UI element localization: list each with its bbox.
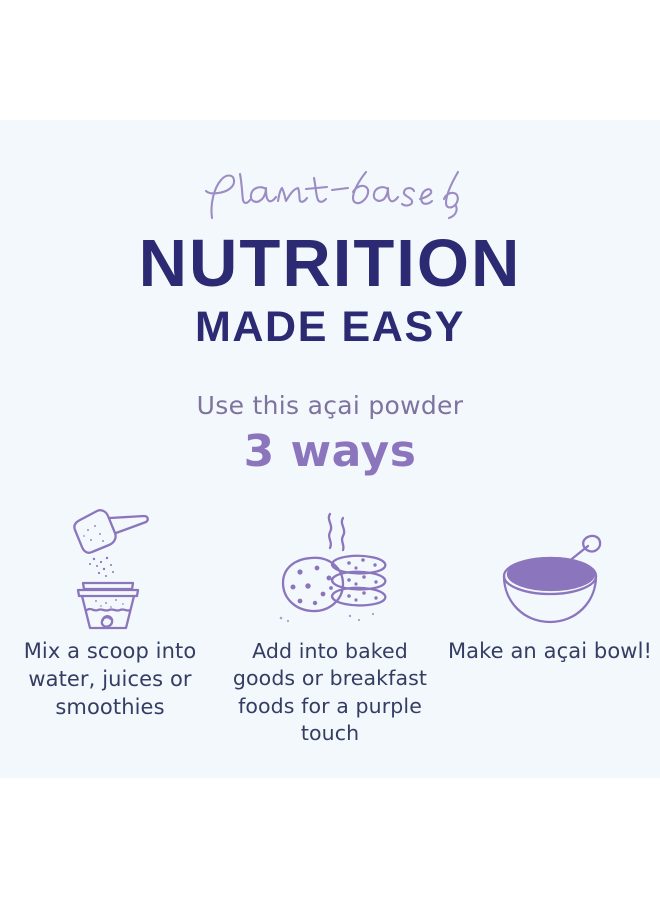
eyebrow-script-plant-based	[0, 162, 660, 224]
infographic-panel: NUTRITION MADE EASY Use this açai powder…	[0, 120, 660, 778]
way-item-mix-into-drinks: Mix a scoop into water, juices or smooth…	[0, 502, 220, 722]
way-2-icon-slot	[255, 502, 405, 630]
way-1-caption: Mix a scoop into water, juices or smooth…	[0, 638, 220, 722]
three-ways-label: 3 ways	[0, 426, 660, 479]
way-item-acai-bowl: Make an açai bowl!	[440, 502, 660, 666]
way-3-icon-slot	[480, 502, 620, 630]
ways-row: Mix a scoop into water, juices or smooth…	[0, 502, 660, 747]
way-3-caption: Make an açai bowl!	[442, 638, 658, 666]
way-item-baked-goods: Add into baked goods or breakfast foods …	[220, 502, 440, 747]
baked-goods-cookies-icon	[255, 502, 405, 630]
shaker-bottle-with-scoop-icon	[40, 502, 180, 630]
subheadline-made-easy: MADE EASY	[0, 306, 660, 349]
headline-nutrition: NUTRITION	[0, 230, 660, 297]
way-2-caption: Add into baked goods or breakfast foods …	[220, 638, 440, 747]
infographic-canvas: NUTRITION MADE EASY Use this açai powder…	[0, 0, 660, 900]
use-instruction-line: Use this açai powder	[0, 392, 660, 420]
way-1-icon-slot	[40, 502, 180, 630]
acai-bowl-with-spoon-icon	[480, 502, 620, 630]
plant-based-script-lettering	[190, 162, 470, 224]
